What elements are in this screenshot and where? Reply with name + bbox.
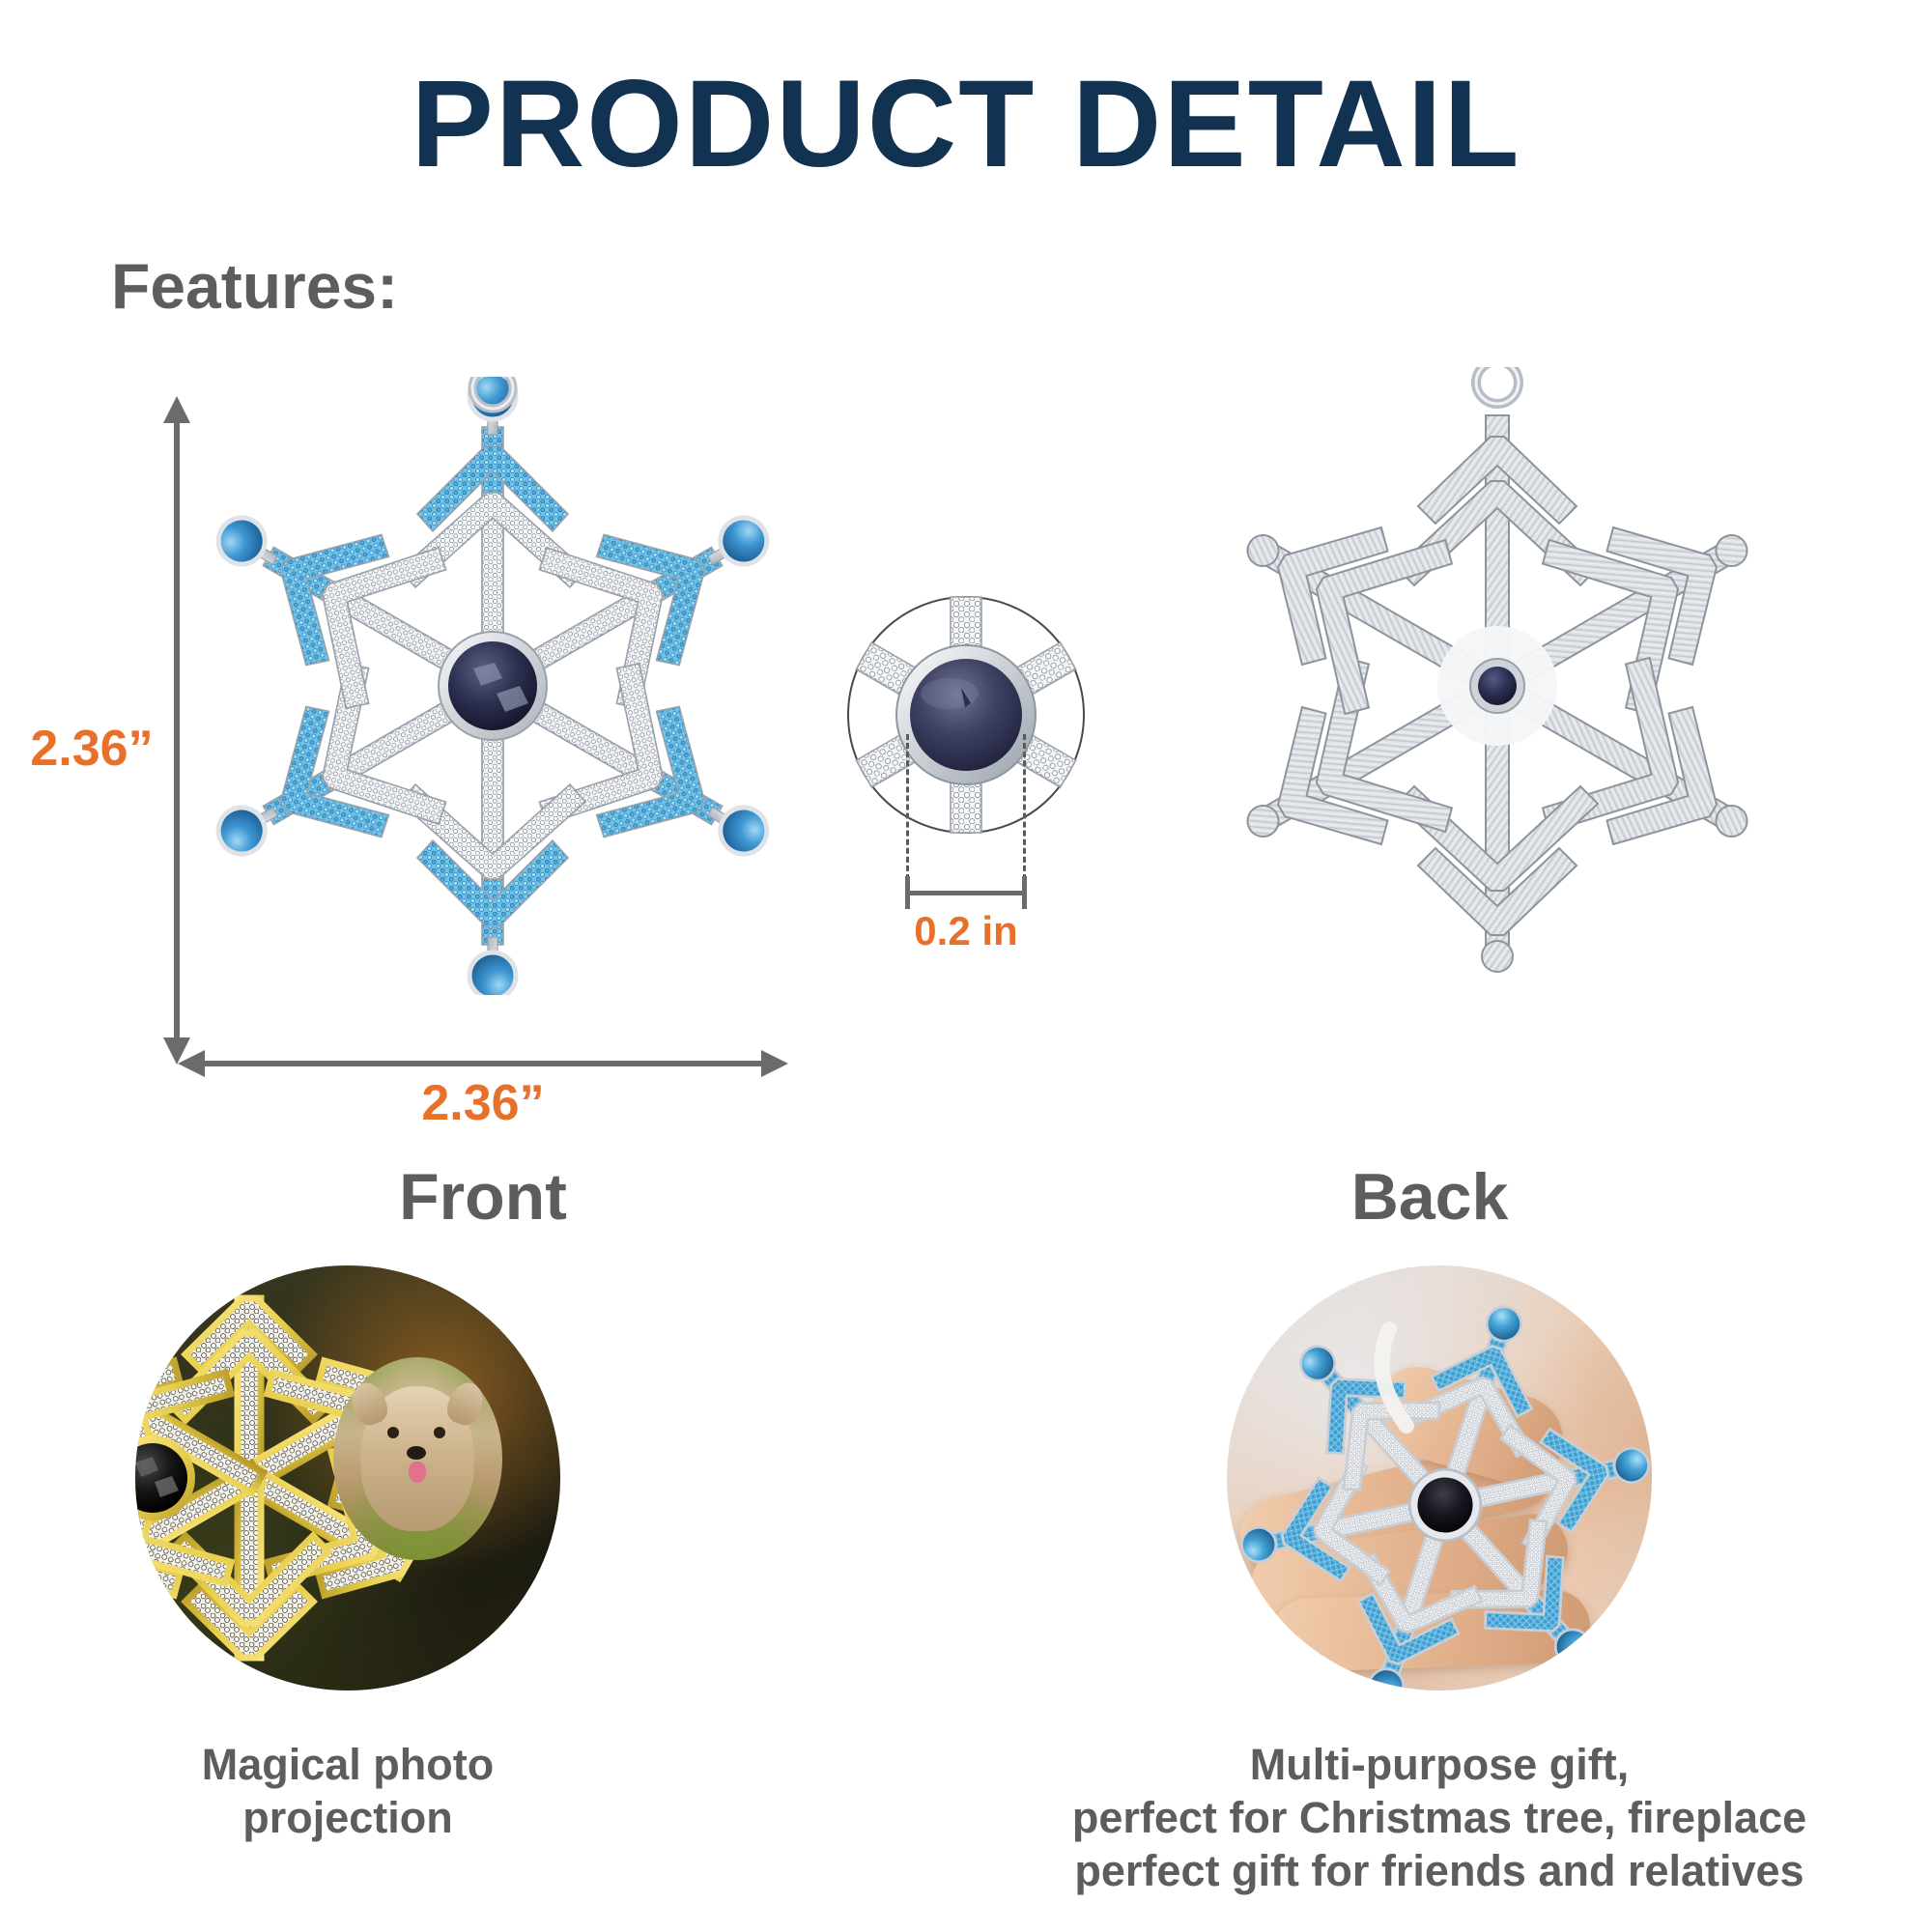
caliper-tick-right <box>1022 876 1027 909</box>
height-label: 2.36” <box>19 720 164 778</box>
center-gem-closeup-image <box>826 580 1106 860</box>
features-heading: Features: <box>111 249 398 323</box>
caliper-leader-right <box>1023 734 1026 889</box>
photo-projection-image <box>135 1265 560 1690</box>
page-title: PRODUCT DETAIL <box>0 60 1932 189</box>
caliper-tick-left <box>905 876 910 909</box>
dog-nose <box>407 1446 426 1460</box>
dog-eye-right <box>434 1427 445 1438</box>
height-dimension-arrow <box>174 421 180 1039</box>
projected-dog-photo <box>333 1357 502 1560</box>
hanging-ring-back <box>1476 367 1519 404</box>
caliper-line <box>905 891 1027 895</box>
hand-holding-ornament-image <box>1227 1265 1652 1690</box>
back-view-label: Back <box>1140 1159 1719 1235</box>
dog-eye-left <box>387 1427 399 1438</box>
width-dimension-arrow <box>203 1061 763 1066</box>
width-label: 2.36” <box>203 1074 763 1132</box>
caption-line: perfect for Christmas tree, fireplace <box>976 1792 1903 1845</box>
caption-multi-purpose-gift: Multi-purpose gift, perfect for Christma… <box>976 1739 1903 1898</box>
caption-line: Magical photo <box>77 1739 618 1792</box>
caption-photo-projection: Magical photo projection <box>77 1739 618 1845</box>
caption-line: Multi-purpose gift, <box>976 1739 1903 1792</box>
caption-line: perfect gift for friends and relatives <box>976 1845 1903 1898</box>
front-view-label: Front <box>193 1159 773 1235</box>
caliper-leader-left <box>906 734 909 889</box>
caption-line: projection <box>77 1792 618 1845</box>
dog-tongue <box>409 1462 426 1483</box>
product-detail-infographic: PRODUCT DETAIL Features: <box>0 0 1932 1932</box>
thickness-label: 0.2 in <box>850 908 1082 954</box>
front-snowflake-image <box>193 377 792 995</box>
back-snowflake-image <box>1198 367 1797 1005</box>
